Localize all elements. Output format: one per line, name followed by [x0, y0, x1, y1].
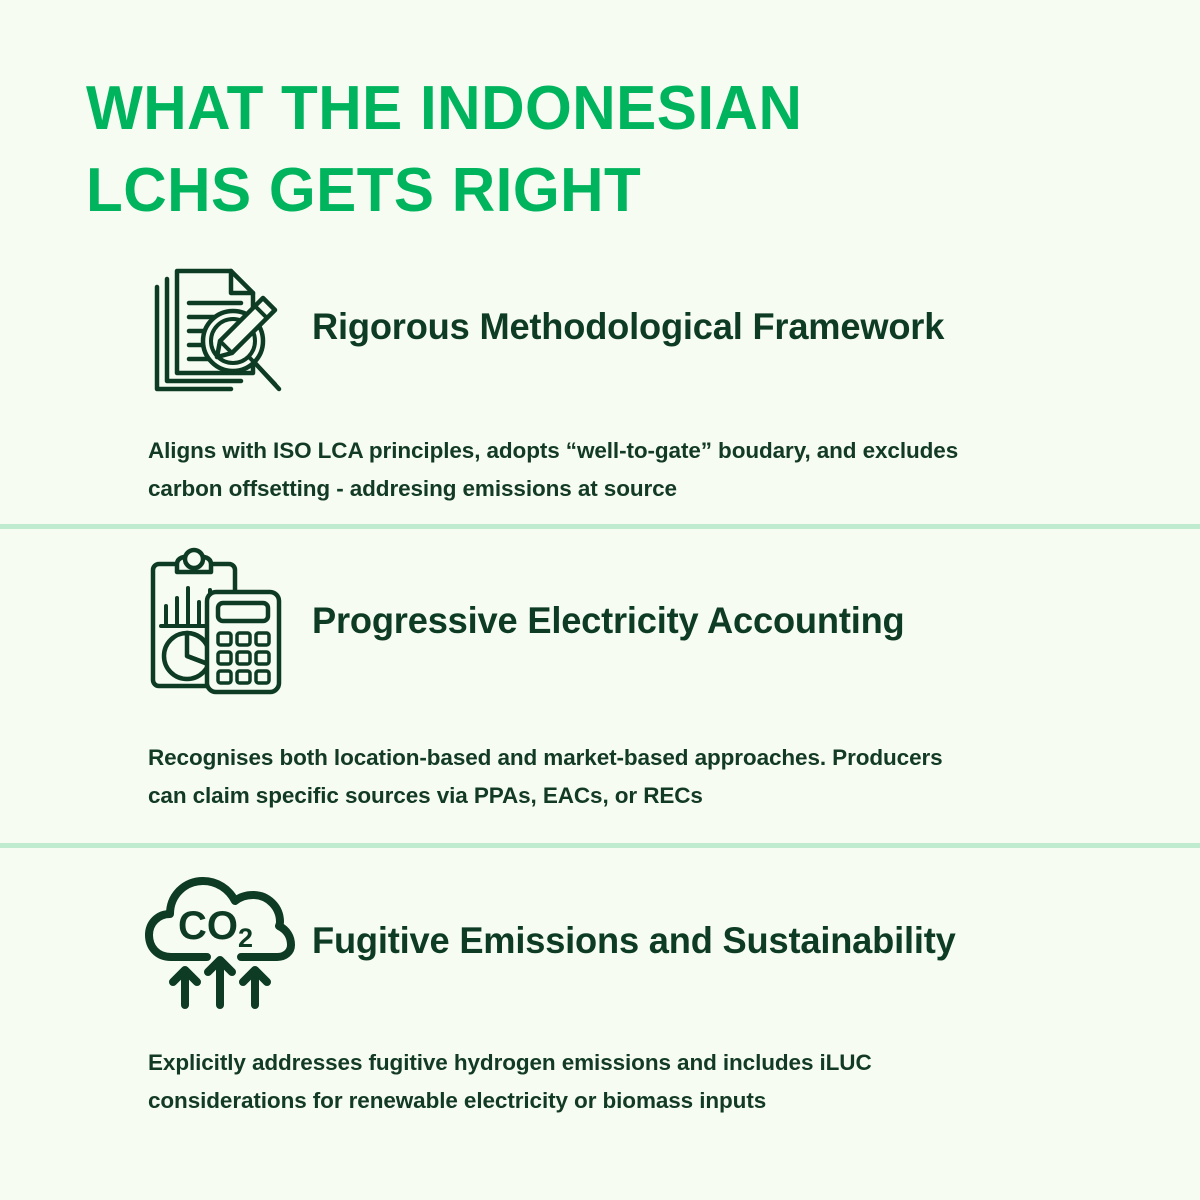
section-header: Progressive Electricity Accounting — [0, 546, 1200, 696]
section-body: Aligns with ISO LCA principles, adopts “… — [148, 432, 1108, 508]
section-body-line-2: carbon offsetting - addresing emissions … — [148, 470, 1108, 508]
infographic-page: WHAT THE INDONESIAN LCHS GETS RIGHT — [0, 0, 1200, 1200]
section-fugitive-emissions-and-sustainability: CO2 Fugitive Emissions and Sustainabilit… — [0, 866, 1200, 1016]
document-magnifier-pencil-icon — [140, 252, 300, 402]
section-body-line-2: considerations for renewable electricity… — [148, 1082, 1108, 1120]
section-progressive-electricity-accounting: Progressive Electricity Accounting Recog… — [0, 546, 1200, 696]
section-title: Fugitive Emissions and Sustainability — [312, 866, 956, 1016]
section-header: Rigorous Methodological Framework — [0, 252, 1200, 402]
section-divider-2 — [0, 843, 1200, 848]
section-body-line-1: Recognises both location-based and marke… — [148, 739, 1108, 777]
section-body-line-1: Explicitly addresses fugitive hydrogen e… — [148, 1044, 1108, 1082]
section-body-line-2: can claim specific sources via PPAs, EAC… — [148, 777, 1108, 815]
page-title: WHAT THE INDONESIAN LCHS GETS RIGHT — [86, 68, 986, 232]
section-divider-1 — [0, 524, 1200, 529]
section-rigorous-methodological-framework: Rigorous Methodological Framework Aligns… — [0, 252, 1200, 402]
clipboard-calculator-icon — [136, 546, 296, 696]
section-title: Rigorous Methodological Framework — [312, 252, 944, 402]
section-body: Explicitly addresses fugitive hydrogen e… — [148, 1044, 1108, 1120]
section-body: Recognises both location-based and marke… — [148, 739, 1108, 815]
co2-label: CO2 — [178, 904, 253, 953]
title-line-1: WHAT THE INDONESIAN — [86, 68, 959, 150]
section-header: CO2 Fugitive Emissions and Sustainabilit… — [0, 866, 1200, 1016]
co2-cloud-arrows-icon: CO2 — [140, 866, 300, 1016]
section-title: Progressive Electricity Accounting — [312, 546, 905, 696]
section-body-line-1: Aligns with ISO LCA principles, adopts “… — [148, 432, 1108, 470]
title-line-2: LCHS GETS RIGHT — [86, 150, 959, 232]
